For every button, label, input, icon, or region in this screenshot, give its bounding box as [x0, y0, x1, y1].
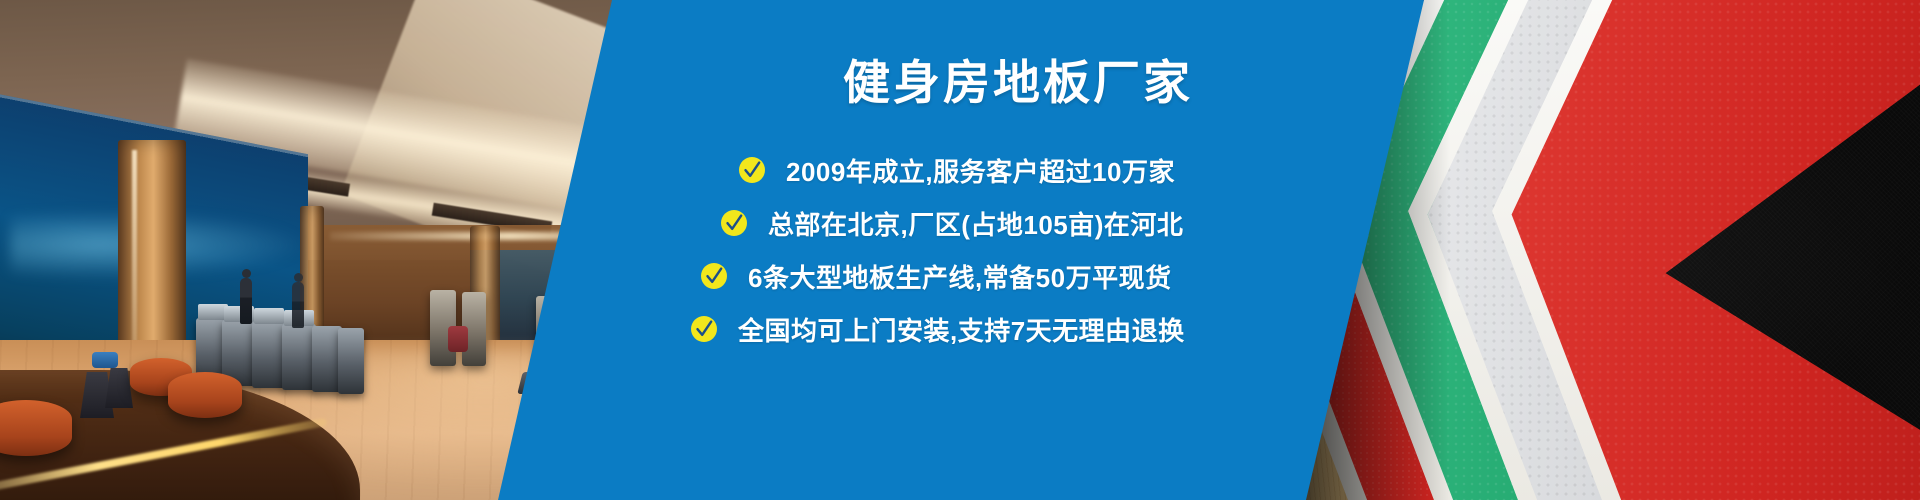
check-circle-icon: [738, 156, 766, 184]
treadmill: [282, 324, 316, 390]
folded-towel: [92, 352, 118, 368]
feature-list: 2009年成立,服务客户超过10万家 总部在北京,厂区(占地105亩)在河北: [612, 144, 1424, 356]
ottoman: [168, 372, 242, 418]
list-item-label: 2009年成立,服务客户超过10万家: [786, 152, 1175, 189]
list-item: 全国均可上门安装,支持7天无理由退换: [612, 303, 1424, 355]
person-walking: [240, 278, 252, 324]
elliptical: [338, 328, 364, 394]
machine-seat: [448, 326, 468, 352]
check-circle-icon: [690, 315, 718, 343]
list-item: 6条大型地板生产线,常备50万平现货: [612, 250, 1424, 302]
check-circle-icon: [720, 209, 748, 237]
list-item-label: 总部在北京,厂区(占地105亩)在河北: [768, 205, 1183, 242]
promo-banner: 健身房地板厂家 2009年成立,服务客户超过10万家: [0, 0, 1920, 500]
list-item-label: 6条大型地板生产线,常备50万平现货: [748, 258, 1172, 295]
page-title: 健身房地板厂家: [612, 57, 1424, 109]
person-standing: [292, 282, 304, 328]
list-item: 2009年成立,服务客户超过10万家: [612, 144, 1424, 196]
treadmill: [252, 322, 286, 388]
check-circle-icon: [700, 262, 728, 290]
list-item-label: 全国均可上门安装,支持7天无理由退换: [738, 311, 1185, 348]
ottoman: [0, 400, 72, 456]
list-item: 总部在北京,厂区(占地105亩)在河北: [612, 197, 1424, 249]
banner-content: 健身房地板厂家 2009年成立,服务客户超过10万家: [612, 0, 1424, 500]
treadmill-screen: [254, 308, 284, 324]
